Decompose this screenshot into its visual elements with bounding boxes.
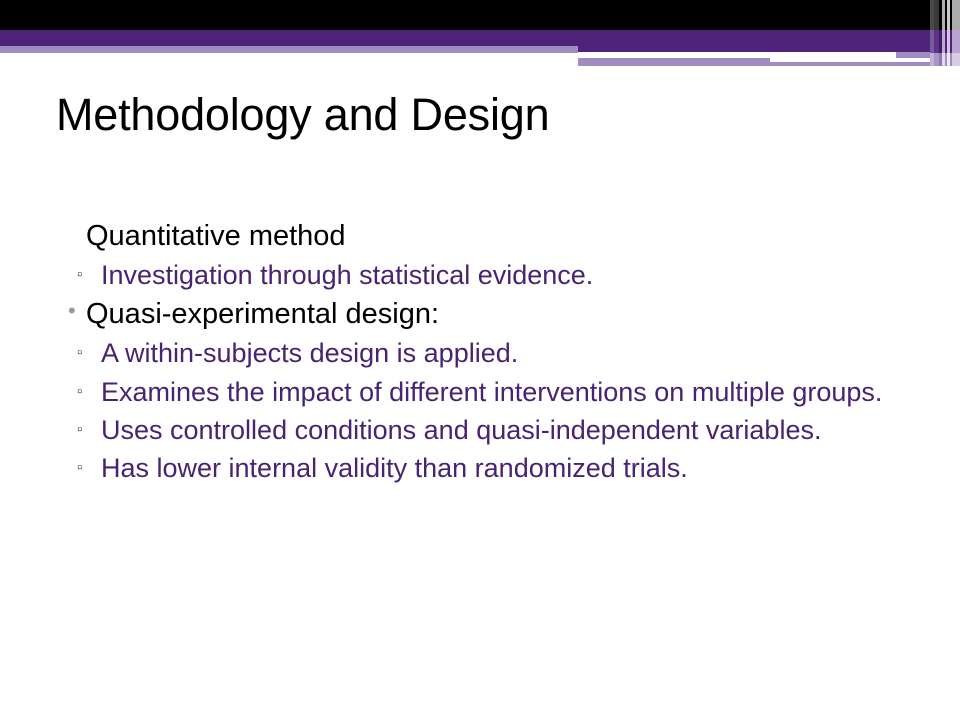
slide-canvas: Methodology and Design • Quantitative me… bbox=[0, 0, 960, 720]
bullet-none-icon: • bbox=[56, 216, 86, 249]
list-item-label: Investigation through statistical eviden… bbox=[101, 256, 901, 294]
list-item-label: Quasi-experimental design: bbox=[86, 294, 916, 334]
hollow-square-bullet-icon: ▫ bbox=[56, 373, 101, 411]
hollow-square-bullet-icon: ▫ bbox=[56, 411, 101, 449]
header-stripe-low-8 bbox=[952, 30, 960, 53]
list-item: • Quasi-experimental design: bbox=[56, 294, 916, 334]
list-item-label: Examines the impact of different interve… bbox=[101, 373, 901, 411]
list-item: ▫ Investigation through statistical evid… bbox=[56, 256, 916, 294]
list-item-label: A within-subjects design is applied. bbox=[101, 334, 901, 372]
list-item-label: Quantitative method bbox=[86, 216, 916, 256]
slide-title: Methodology and Design bbox=[56, 91, 916, 139]
list-item: • Quantitative method bbox=[56, 216, 916, 256]
header-purple-band bbox=[0, 30, 960, 46]
list-item-label: Has lower internal validity than randomi… bbox=[101, 449, 901, 487]
header-black-band bbox=[0, 0, 960, 30]
round-dot-bullet-icon: • bbox=[56, 294, 86, 327]
hollow-square-bullet-icon: ▫ bbox=[56, 256, 101, 294]
list-item: ▫ Examines the impact of different inter… bbox=[56, 373, 916, 411]
list-item-label: Uses controlled conditions and quasi-ind… bbox=[101, 411, 901, 449]
list-item: ▫ Has lower internal validity than rando… bbox=[56, 449, 916, 487]
slide-body: • Quantitative method ▫ Investigation th… bbox=[56, 216, 916, 488]
hollow-square-bullet-icon: ▫ bbox=[56, 449, 101, 487]
list-item: ▫ A within-subjects design is applied. bbox=[56, 334, 916, 372]
hollow-square-bullet-icon: ▫ bbox=[56, 334, 101, 372]
header-stripe-8 bbox=[952, 0, 960, 30]
header-stripe-tail-8 bbox=[952, 53, 960, 66]
list-item: ▫ Uses controlled conditions and quasi-i… bbox=[56, 411, 916, 449]
